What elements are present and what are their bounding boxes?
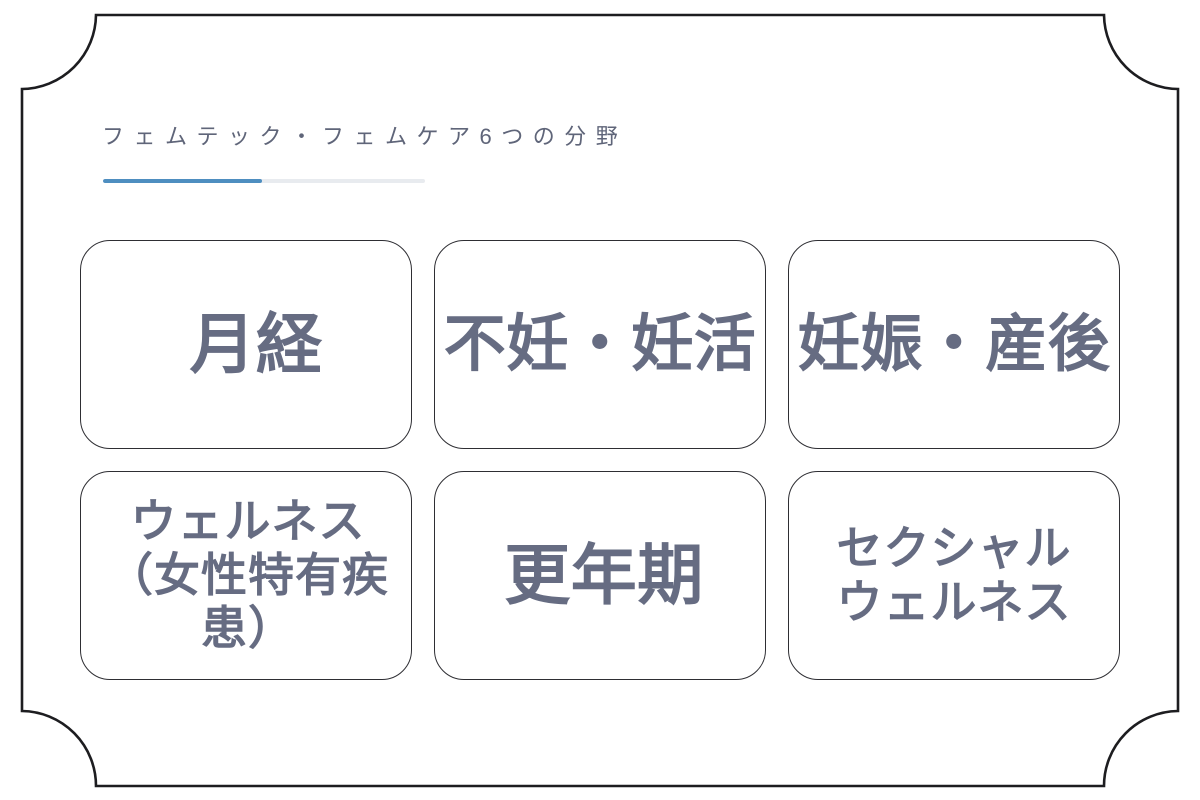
category-card-label: 妊娠・産後 bbox=[798, 309, 1111, 381]
page-title: フェムテック・フェムケア6つの分野 bbox=[102, 122, 1002, 152]
category-card-fertility[interactable]: 不妊・妊活 bbox=[434, 240, 766, 449]
category-card-pregnancy[interactable]: 妊娠・産後 bbox=[788, 240, 1120, 449]
category-card-label: セクシャル ウェルネス bbox=[837, 522, 1072, 629]
category-card-label: ウェルネス （女性特有疾患） bbox=[83, 495, 413, 655]
category-card-menstruation[interactable]: 月経 bbox=[80, 240, 412, 449]
category-card-label: 月経 bbox=[190, 306, 323, 383]
category-card-label: 更年期 bbox=[504, 537, 704, 614]
category-card-menopause[interactable]: 更年期 bbox=[434, 471, 766, 680]
category-card-sexual-wellness[interactable]: セクシャル ウェルネス bbox=[788, 471, 1120, 680]
slide-canvas: フェムテック・フェムケア6つの分野 月経 不妊・妊活 妊娠・産後 ウェルネス （… bbox=[0, 0, 1200, 800]
category-card-label: 不妊・妊活 bbox=[444, 309, 757, 381]
title-underline-accent bbox=[103, 179, 262, 183]
category-card-grid: 月経 不妊・妊活 妊娠・産後 ウェルネス （女性特有疾患） 更年期 セクシャル … bbox=[80, 240, 1120, 680]
title-underline-track bbox=[103, 179, 425, 183]
category-card-wellness[interactable]: ウェルネス （女性特有疾患） bbox=[80, 471, 412, 680]
heading-block: フェムテック・フェムケア6つの分野 bbox=[102, 122, 1002, 152]
